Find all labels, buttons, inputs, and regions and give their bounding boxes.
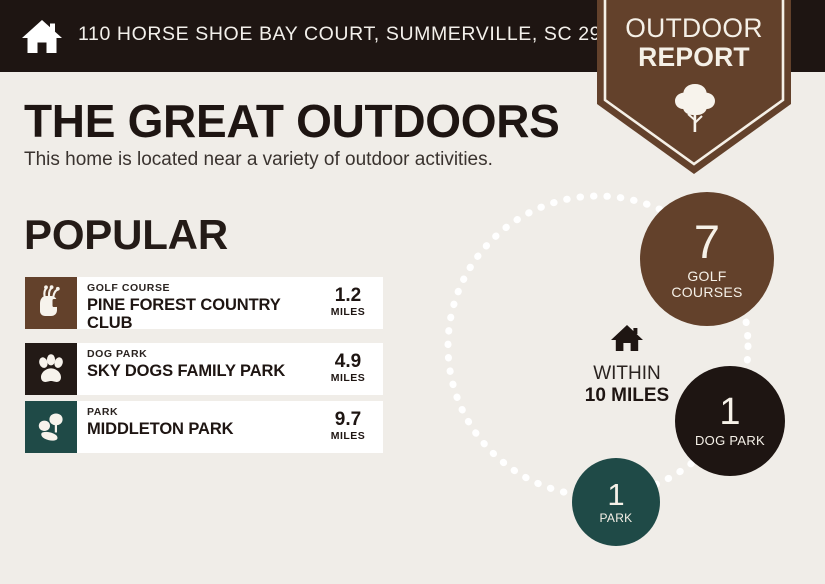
distance-unit: MILES	[321, 371, 375, 385]
distance-unit: MILES	[321, 305, 375, 319]
bubble-label-line1: PARK	[600, 512, 633, 525]
paw-print-icon	[25, 343, 77, 395]
list-item[interactable]: PARK MIDDLETON PARK 9.7 MILES	[25, 401, 383, 453]
distance-unit: MILES	[321, 429, 375, 443]
distance-value: 1.2	[321, 286, 375, 305]
bubble-count: 1	[719, 393, 740, 431]
page-title: THE GREAT OUTDOORS	[24, 94, 560, 148]
list-item-distance: 4.9 MILES	[321, 352, 375, 385]
list-item-category: GOLF COURSE	[87, 283, 327, 295]
proximity-diagram: WITHIN 10 MILES 7 GOLF COURSES 1 DOG PAR…	[430, 176, 825, 584]
distance-value: 4.9	[321, 352, 375, 371]
list-item[interactable]: GOLF COURSE PINE FOREST COUNTRY CLUB 1.2…	[25, 277, 383, 329]
page-subtitle: This home is located near a variety of o…	[24, 149, 493, 171]
badge-title-line2: REPORT	[597, 43, 791, 72]
badge-title-line1: OUTDOOR	[597, 14, 791, 43]
property-address: 110 HORSE SHOE BAY COURT, SUMMERVILLE, S…	[78, 23, 635, 46]
list-item-category: PARK	[87, 407, 327, 419]
bubble-golf-courses[interactable]: 7 GOLF COURSES	[640, 192, 774, 326]
house-icon	[610, 322, 644, 354]
list-item-category: DOG PARK	[87, 349, 327, 361]
bubble-label-line2: COURSES	[671, 285, 742, 300]
outdoor-report-infographic: 110 HORSE SHOE BAY COURT, SUMMERVILLE, S…	[0, 0, 825, 584]
bubble-dog-park[interactable]: 1 DOG PARK	[675, 366, 785, 476]
list-item-name: MIDDLETON PARK	[87, 420, 327, 438]
distance-value: 9.7	[321, 410, 375, 429]
bubble-count: 1	[607, 479, 624, 510]
diagram-center-label: WITHIN 10 MILES	[552, 322, 702, 407]
bubble-label-line1: DOG PARK	[695, 434, 765, 448]
list-item-text: DOG PARK SKY DOGS FAMILY PARK	[87, 349, 327, 380]
bubble-count: 7	[694, 218, 720, 265]
list-item-text: GOLF COURSE PINE FOREST COUNTRY CLUB	[87, 283, 327, 332]
bubble-label-line1: GOLF	[687, 269, 726, 284]
badge-title: OUTDOOR REPORT	[597, 14, 791, 71]
list-item-name: SKY DOGS FAMILY PARK	[87, 362, 327, 380]
bubble-park[interactable]: 1 PARK	[572, 458, 660, 546]
tree-icon	[674, 82, 716, 132]
list-item-distance: 9.7 MILES	[321, 410, 375, 443]
popular-list: GOLF COURSE PINE FOREST COUNTRY CLUB 1.2…	[25, 277, 383, 459]
diagram-center-line1: WITHIN	[552, 363, 702, 385]
list-item[interactable]: DOG PARK SKY DOGS FAMILY PARK 4.9 MILES	[25, 343, 383, 395]
house-icon	[20, 14, 64, 58]
popular-heading: POPULAR	[24, 211, 228, 259]
outdoor-report-badge: OUTDOOR REPORT	[597, 0, 791, 174]
park-trees-icon	[25, 401, 77, 453]
list-item-name: PINE FOREST COUNTRY CLUB	[87, 296, 327, 333]
list-item-distance: 1.2 MILES	[321, 286, 375, 319]
list-item-text: PARK MIDDLETON PARK	[87, 407, 327, 438]
golf-bag-icon	[25, 277, 77, 329]
